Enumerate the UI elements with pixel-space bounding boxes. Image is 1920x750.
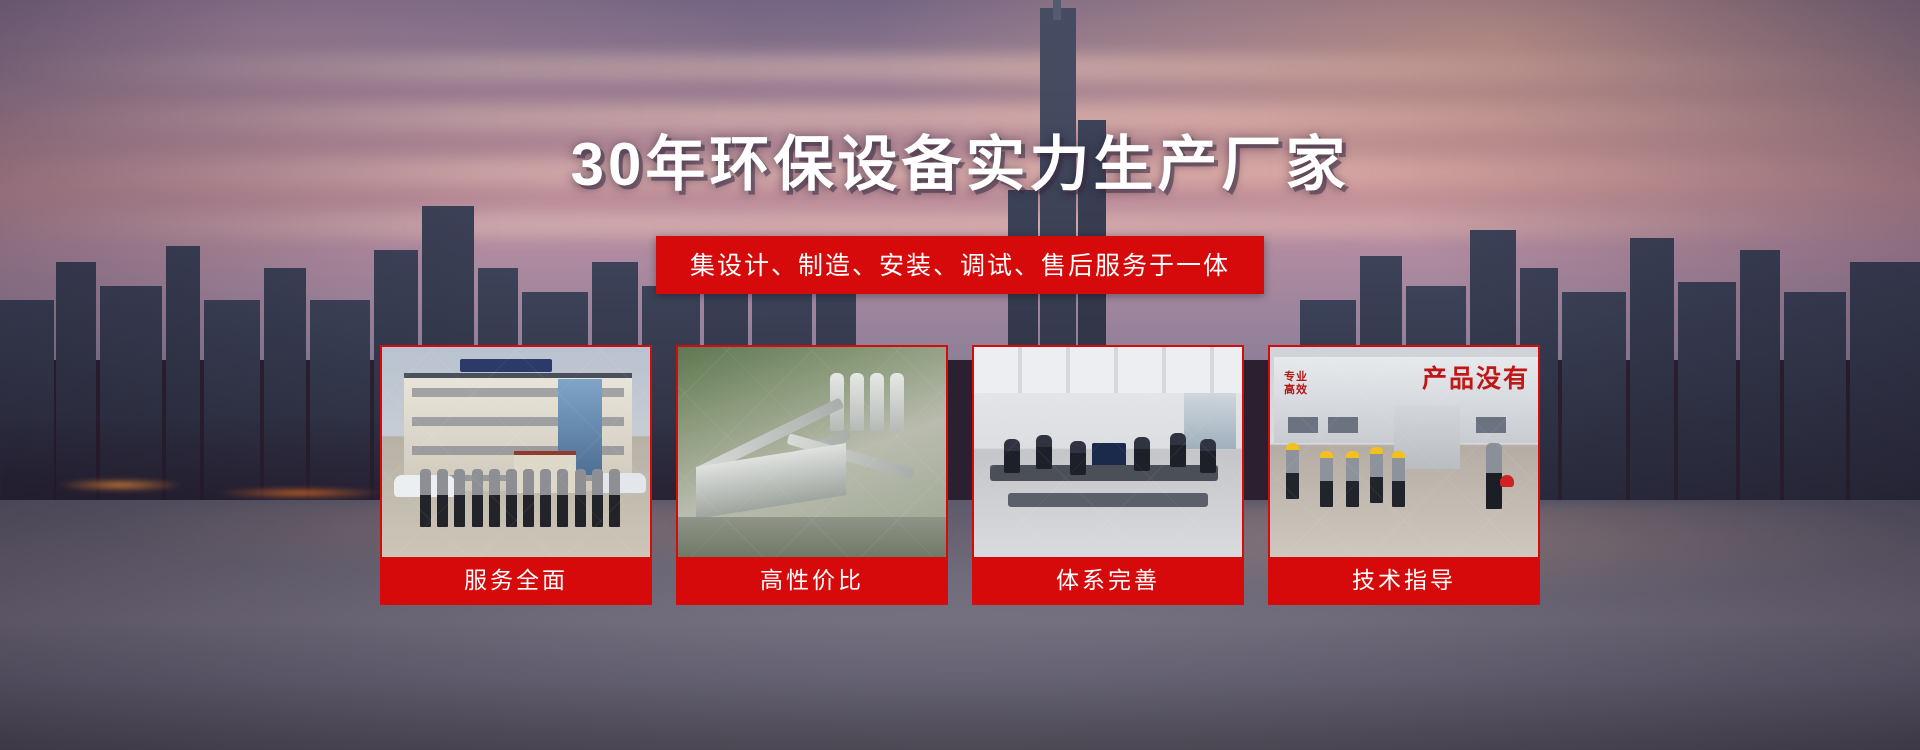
card-label: 高性价比	[678, 557, 946, 603]
subtitle-badge: 集设计、制造、安装、调试、售后服务于一体	[656, 236, 1264, 294]
card-photo-aerial-view-of-production-plant	[678, 347, 946, 557]
page-title: 30年环保设备实力生产厂家	[0, 116, 1920, 203]
card-label: 服务全面	[382, 557, 650, 603]
subtitle-container: 集设计、制造、安装、调试、售后服务于一体	[0, 236, 1920, 294]
feature-card[interactable]: 服务全面	[380, 345, 652, 605]
watermark-overlay	[382, 347, 650, 557]
feature-card[interactable]: 体系完善	[972, 345, 1244, 605]
feature-card[interactable]: 高性价比	[676, 345, 948, 605]
feature-card[interactable]: 产品没有 专业高效 技术指导	[1268, 345, 1540, 605]
hero-banner: 30年环保设备实力生产厂家 集设计、制造、安装、调试、售后服务于一体 服务全面	[0, 0, 1920, 750]
feature-card-list: 服务全面 高性价比	[380, 345, 1540, 605]
watermark-overlay	[678, 347, 946, 557]
watermark-overlay	[974, 347, 1242, 557]
card-label: 技术指导	[1270, 557, 1538, 603]
card-label: 体系完善	[974, 557, 1242, 603]
card-photo-factory-yard-workers-briefing: 产品没有 专业高效	[1270, 347, 1538, 557]
card-photo-company-office-building-with-staff	[382, 347, 650, 557]
watermark-overlay	[1270, 347, 1538, 557]
card-photo-office-interior-meeting	[974, 347, 1242, 557]
